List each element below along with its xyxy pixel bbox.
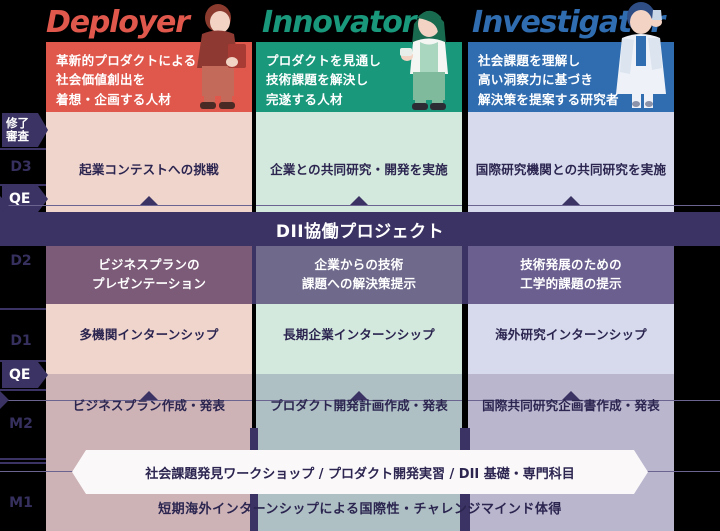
track-desc-line: 社会課題を理解し bbox=[478, 51, 674, 70]
track-desc-line: 革新的プロダクトによる bbox=[56, 51, 252, 70]
rail-chip-label: D1 bbox=[10, 333, 31, 350]
stage-box-label: 海外研究インターンシップ bbox=[495, 326, 647, 345]
column-separator bbox=[462, 246, 468, 304]
stage-box-label: 工学的課題の提示 bbox=[520, 275, 622, 294]
stage-box-label: 技術発展のための bbox=[520, 256, 622, 275]
stage-box-challenge-deployer: 起業コンテストへの挑戦 bbox=[46, 148, 252, 192]
stage-box-dii-investigator: 技術発展のための 工学的課題の提示 bbox=[468, 246, 674, 304]
stage-box-plan-investigator: 国際共同研究企画書作成・発表 bbox=[468, 386, 674, 426]
stage-box-label: プロダクト開発計画作成・発表 bbox=[270, 397, 448, 416]
band-dii-project: DII協働プロジェクト bbox=[0, 212, 720, 246]
band-workshop: 社会課題発見ワークショップ / プロダクト開発実習 / DII 基礎・専門科目 bbox=[72, 450, 648, 494]
flow-arrow-up-icon bbox=[140, 196, 158, 205]
stage-box-label: 多機関インターンシップ bbox=[79, 326, 218, 345]
rail-divider bbox=[0, 360, 46, 362]
track-desc-line: 着想・企画する人材 bbox=[56, 90, 252, 109]
track-header-deployer: 革新的プロダクトによる 社会価値創出を 着想・企画する人材 bbox=[46, 42, 252, 112]
track-header-investigator: 社会課題を理解し 高い洞察力に基づき 解決策を提案する研究者 bbox=[468, 42, 674, 112]
stage-box-label: 企業からの技術 bbox=[315, 256, 404, 275]
rail-chip-label: 審査 bbox=[6, 130, 29, 143]
band-overseas-internship: 短期海外インターンシップによる国際性・チャレンジマインド体得 bbox=[0, 494, 720, 520]
rail-divider bbox=[0, 184, 46, 186]
stage-box-challenge-investigator: 国際研究機関との共同研究を実施 bbox=[468, 148, 674, 192]
right-margin-background bbox=[674, 112, 720, 531]
rail-chip-label: QE bbox=[9, 367, 30, 383]
stage-box-label: 起業コンテストへの挑戦 bbox=[79, 161, 219, 180]
career-pathway-diagram: Deployer 革新的プロダクトによる 社会価値創出を 着想・企画する人材 I… bbox=[0, 0, 720, 531]
track-title-deployer: Deployer bbox=[46, 8, 189, 38]
row-connector-rule bbox=[0, 205, 720, 206]
stage-box-dii-deployer: ビジネスプランの プレゼンテーション bbox=[46, 246, 252, 304]
rail-chip-year-m2: M2 bbox=[2, 413, 40, 435]
stage-box-label: ビジネスプラン作成・発表 bbox=[73, 397, 225, 416]
track-desc-line: 完遂する人材 bbox=[266, 90, 462, 109]
flow-arrow-up-icon bbox=[350, 196, 368, 205]
flow-arrow-up-icon bbox=[562, 196, 580, 205]
track-desc-line: 社会価値創出を bbox=[56, 70, 252, 89]
stage-box-label: 国際共同研究企画書作成・発表 bbox=[482, 397, 660, 416]
track-desc-line: 技術課題を解決し bbox=[266, 70, 462, 89]
flow-arrow-right-icon bbox=[0, 391, 9, 409]
rail-divider bbox=[0, 462, 46, 464]
stage-box-dii-innovator: 企業からの技術 課題への解決策提示 bbox=[256, 246, 462, 304]
rail-divider bbox=[0, 458, 46, 460]
stage-box-internship-deployer: 多機関インターンシップ bbox=[46, 310, 252, 360]
stage-box-label: 長期企業インターンシップ bbox=[283, 326, 435, 345]
stage-box-challenge-innovator: 企業との共同研究・開発を実施 bbox=[256, 148, 462, 192]
rail-chip-year-d3: D3 bbox=[2, 157, 40, 177]
stage-box-internship-innovator: 長期企業インターンシップ bbox=[256, 310, 462, 360]
track-title-investigator: Investigator bbox=[472, 8, 664, 38]
track-desc-line: 解決策を提案する研究者 bbox=[478, 90, 674, 109]
stage-box-label: 課題への解決策提示 bbox=[302, 275, 416, 294]
column-separator bbox=[252, 112, 256, 206]
band-label: DII協働プロジェクト bbox=[276, 217, 444, 242]
rail-chip-label: D2 bbox=[10, 253, 31, 270]
rail-chip-label: M2 bbox=[9, 416, 33, 433]
track-title-innovator: Innovator bbox=[262, 8, 415, 38]
stage-box-label: 企業との共同研究・開発を実施 bbox=[270, 161, 448, 180]
rail-divider bbox=[0, 148, 46, 150]
stage-box-plan-innovator: プロダクト開発計画作成・発表 bbox=[256, 386, 462, 426]
rail-chip-label: D3 bbox=[10, 159, 31, 176]
stage-box-plan-deployer: ビジネスプラン作成・発表 bbox=[46, 386, 252, 426]
rail-divider bbox=[0, 308, 46, 310]
stage-box-label: ビジネスプランの bbox=[98, 256, 200, 275]
stage-box-label: 国際研究機関との共同研究を実施 bbox=[476, 161, 666, 180]
stage-box-label: プレゼンテーション bbox=[92, 275, 206, 294]
track-desc-line: プロダクトを見通し bbox=[266, 51, 462, 70]
column-separator bbox=[462, 112, 468, 206]
band-label: 社会課題発見ワークショップ / プロダクト開発実習 / DII 基礎・専門科目 bbox=[145, 463, 575, 482]
stage-box-internship-investigator: 海外研究インターンシップ bbox=[468, 310, 674, 360]
band-label: 短期海外インターンシップによる国際性・チャレンジマインド体得 bbox=[158, 498, 562, 517]
track-header-innovator: プロダクトを見通し 技術課題を解決し 完遂する人材 bbox=[256, 42, 462, 112]
rail-chip-year-d2: D2 bbox=[2, 250, 40, 272]
rail-chip-year-d1: D1 bbox=[2, 330, 40, 352]
column-separator bbox=[252, 246, 256, 304]
track-desc-line: 高い洞察力に基づき bbox=[478, 70, 674, 89]
